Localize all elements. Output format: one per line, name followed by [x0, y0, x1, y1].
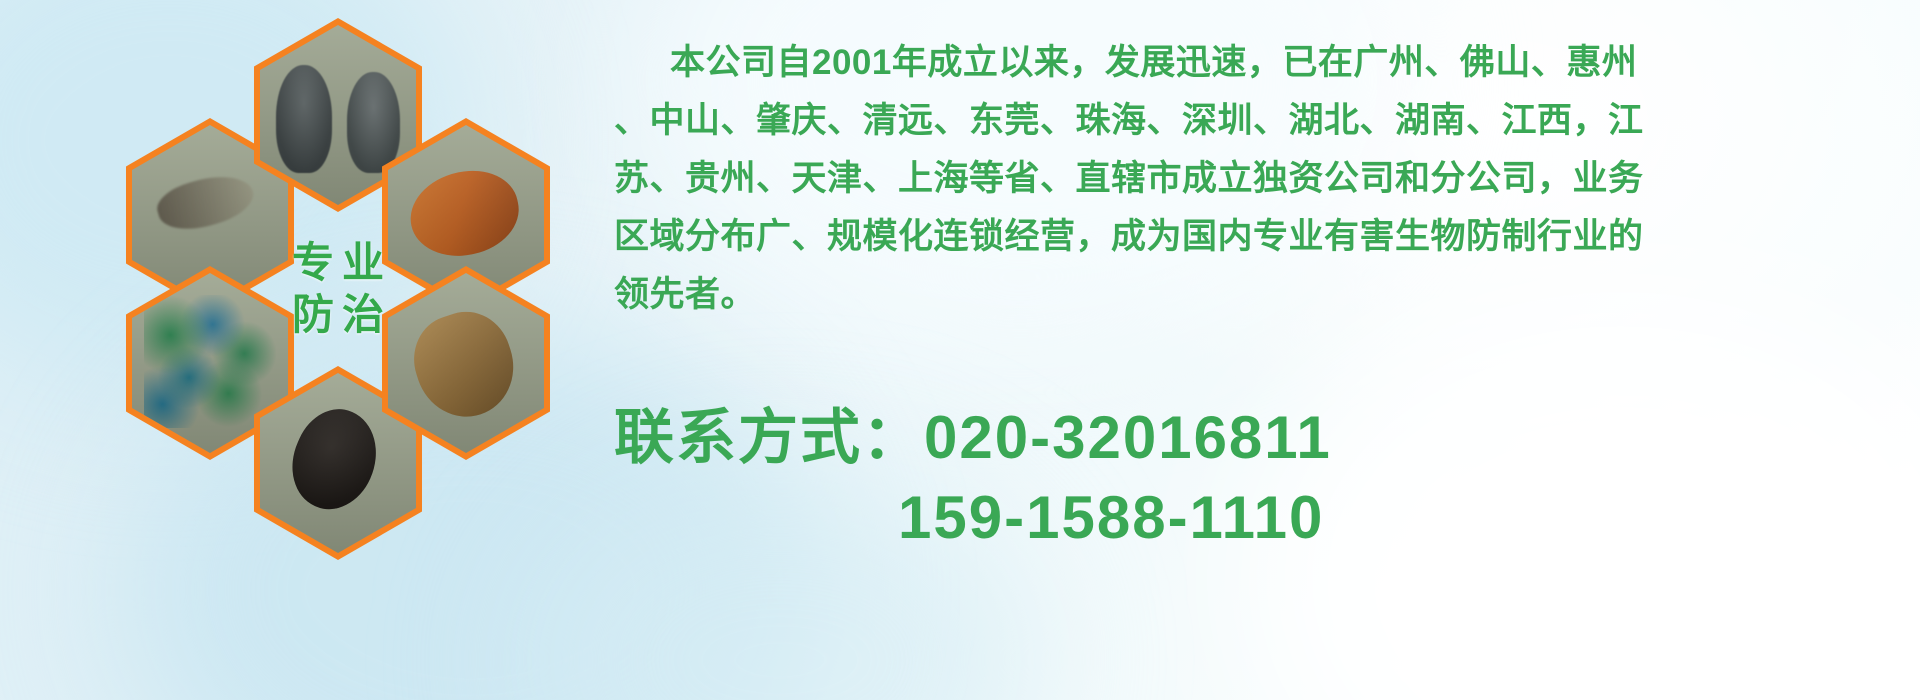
pest-control-banner: 专业 防治 本公司自2001年成立以来，发展迅速，已在广州、佛山、惠州 、中山、…: [0, 0, 1920, 700]
contact-block: 联系方式：020-32016811 159-1588-1110: [614, 398, 1894, 558]
badge-line-1: 专业: [284, 242, 392, 284]
description-line-5: 领先者。: [614, 266, 1879, 324]
description-line-3: 苏、贵州、天津、上海等省、直辖市成立独资公司和分公司，业务: [614, 150, 1879, 208]
honeycomb-photo-cluster: 专业 防治: [88, 18, 588, 578]
description-line-1: 本公司自2001年成立以来，发展迅速，已在广州、佛山、惠州: [614, 34, 1879, 92]
company-description: 本公司自2001年成立以来，发展迅速，已在广州、佛山、惠州 、中山、肇庆、清远、…: [614, 34, 1879, 324]
contact-phone-primary[interactable]: 联系方式：020-32016811: [614, 398, 1894, 478]
contact-phone-secondary[interactable]: 159-1588-1110: [614, 478, 1894, 558]
description-line-2: 、中山、肇庆、清远、东莞、珠海、深圳、湖北、湖南、江西，江: [614, 92, 1879, 150]
description-line-4: 区域分布广、规模化连锁经营，成为国内专业有害生物防制行业的: [614, 208, 1879, 266]
badge-line-2: 防治: [284, 294, 392, 336]
